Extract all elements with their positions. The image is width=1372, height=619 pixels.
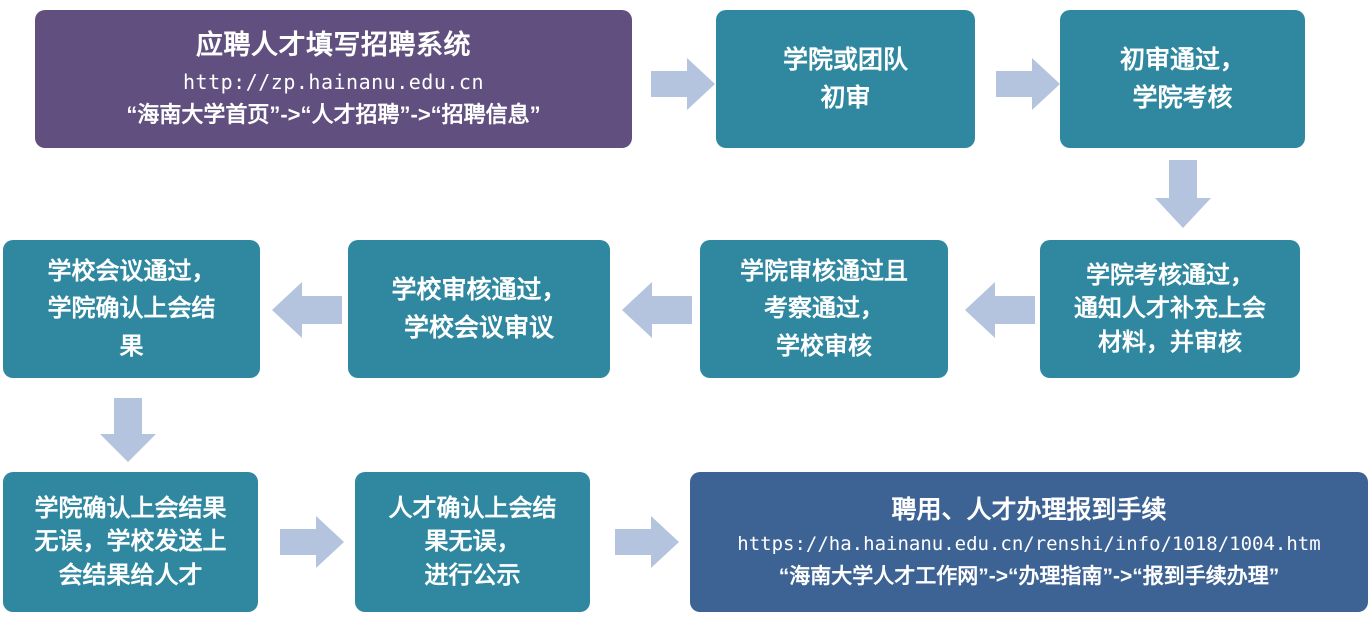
arrow-down-icon (1155, 160, 1211, 228)
arrow-left-icon (622, 282, 692, 338)
arrow-apply-to-first-review (651, 58, 715, 110)
node-school-review-pass-line2: 学校会议审议 (354, 312, 604, 345)
node-first-pass-line1: 初审通过， (1066, 44, 1299, 77)
arrow-first-pass-to-college-assess-pass (1155, 160, 1211, 228)
node-talent-confirm-line1: 人才确认上会结 (361, 493, 584, 524)
arrow-right-icon (996, 58, 1060, 110)
node-school-review-pass-line1: 学校审核通过， (354, 274, 604, 307)
node-hire-url: https://ha.hainanu.edu.cn/renshi/info/10… (696, 532, 1362, 557)
node-school-meeting-pass-line1: 学校会议通过， (9, 256, 254, 287)
node-school-review-pass[interactable]: 学校审核通过， 学校会议审议 (348, 240, 610, 378)
node-hire-path: “海南大学人才工作网”->“办理指南”->“报到手续办理” (696, 563, 1362, 590)
arrow-school-review-to-school-meeting (272, 282, 342, 338)
arrow-right-icon (651, 58, 715, 110)
node-apply-url: http://zp.hainanu.edu.cn (41, 69, 626, 95)
node-college-confirm-line1: 学院确认上会结果 (9, 493, 252, 524)
node-first-review[interactable]: 学院或团队 初审 (716, 10, 975, 148)
node-college-review-pass-line1: 学院审核通过且 (706, 256, 942, 287)
node-first-review-line2: 初审 (722, 82, 969, 115)
node-college-review-pass[interactable]: 学院审核通过且 考察通过， 学校审核 (700, 240, 948, 378)
arrow-left-icon (272, 282, 342, 338)
node-talent-confirm-line3: 进行公示 (361, 560, 584, 591)
node-college-review-pass-line3: 学校审核 (706, 331, 942, 362)
arrow-left-icon (965, 282, 1035, 338)
node-apply-path: “海南大学首页”->“人才招聘”->“招聘信息” (41, 101, 626, 130)
node-college-assess-pass-line1: 学院考核通过， (1046, 260, 1294, 291)
arrow-college-review-to-school-review (622, 282, 692, 338)
arrow-right-icon (280, 516, 344, 568)
node-first-pass-college-assess[interactable]: 初审通过， 学院考核 (1060, 10, 1305, 148)
flowchart-canvas: 应聘人才填写招聘系统 http://zp.hainanu.edu.cn “海南大… (0, 0, 1372, 619)
node-college-confirm-result[interactable]: 学院确认上会结果 无误，学校发送上 会结果给人才 (3, 472, 258, 612)
node-apply-recruitment-system[interactable]: 应聘人才填写招聘系统 http://zp.hainanu.edu.cn “海南大… (35, 10, 632, 148)
arrow-school-meeting-to-college-confirm (100, 398, 156, 462)
node-talent-confirm-result[interactable]: 人才确认上会结 果无误， 进行公示 (355, 472, 590, 612)
node-school-meeting-pass-line3: 果 (9, 331, 254, 362)
node-college-review-pass-line2: 考察通过， (706, 293, 942, 324)
arrow-first-review-to-first-pass (996, 58, 1060, 110)
arrow-college-assess-to-college-review (965, 282, 1035, 338)
node-college-assess-pass-line3: 材料，并审核 (1046, 327, 1294, 358)
arrow-college-confirm-to-talent-confirm (280, 516, 344, 568)
node-school-meeting-pass[interactable]: 学校会议通过， 学院确认上会结 果 (3, 240, 260, 378)
node-first-pass-line2: 学院考核 (1066, 82, 1299, 115)
arrow-talent-confirm-to-hire (615, 516, 679, 568)
node-college-assess-pass-line2: 通知人才补充上会 (1046, 293, 1294, 324)
node-college-confirm-line2: 无误，学校发送上 (9, 526, 252, 557)
arrow-down-icon (100, 398, 156, 462)
node-talent-confirm-line2: 果无误， (361, 526, 584, 557)
node-apply-title: 应聘人才填写招聘系统 (41, 28, 626, 63)
arrow-right-icon (615, 516, 679, 568)
node-school-meeting-pass-line2: 学院确认上会结 (9, 293, 254, 324)
node-hire-title: 聘用、人才办理报到手续 (696, 494, 1362, 527)
node-hire-and-report[interactable]: 聘用、人才办理报到手续 https://ha.hainanu.edu.cn/re… (690, 472, 1368, 612)
node-college-confirm-line3: 会结果给人才 (9, 560, 252, 591)
node-first-review-line1: 学院或团队 (722, 44, 969, 77)
node-college-assess-pass[interactable]: 学院考核通过， 通知人才补充上会 材料，并审核 (1040, 240, 1300, 378)
